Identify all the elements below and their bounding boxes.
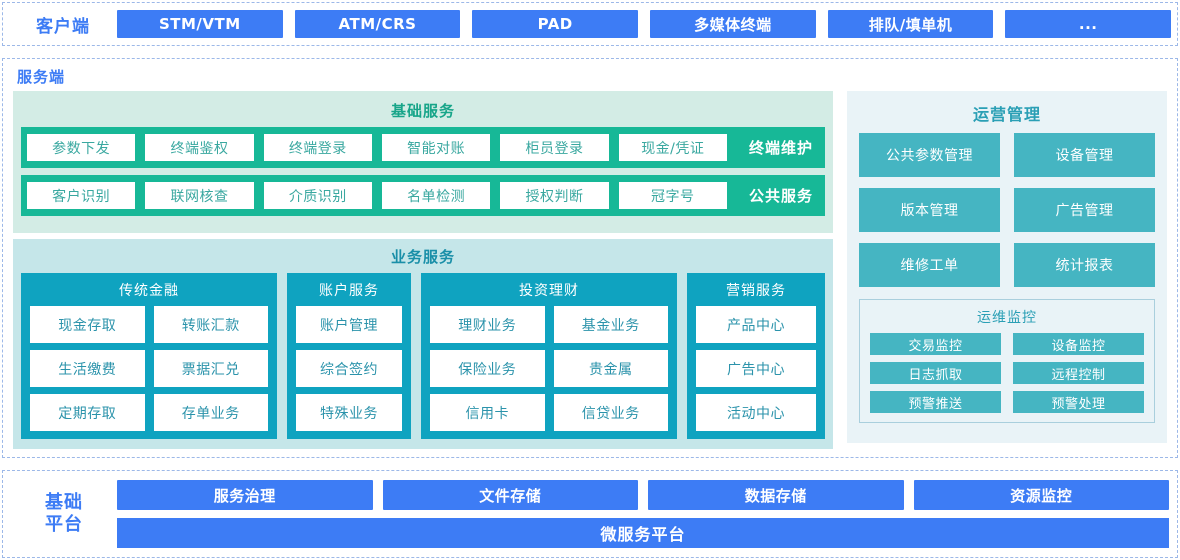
biz-chip-credit-business[interactable]: 信贷业务	[554, 394, 669, 431]
business-card-title-account-service: 账户服务	[296, 278, 402, 306]
business-card-grid-account-service: 账户管理 综合签约 特殊业务	[296, 306, 402, 431]
basic-service-row-terminal-maintenance: 参数下发 终端鉴权 终端登录 智能对账 柜员登录 现金/凭证 终端维护	[21, 127, 825, 168]
basic-chip-teller-login[interactable]: 柜员登录	[500, 134, 608, 161]
business-service-title: 业务服务	[21, 243, 825, 273]
business-card-title-investment-finance: 投资理财	[430, 278, 668, 306]
biz-chip-precious-metals[interactable]: 贵金属	[554, 350, 669, 387]
platform-item-microservice-platform[interactable]: 微服务平台	[117, 518, 1169, 548]
client-item-list: STM/VTM ATM/CRS PAD 多媒体终端 排队/填单机 ...	[117, 10, 1171, 38]
business-card-title-marketing-service: 营销服务	[696, 278, 816, 306]
platform-content: 服务治理 文件存储 数据存储 资源监控 微服务平台	[117, 480, 1169, 548]
biz-chip-cash-deposit-withdrawal[interactable]: 现金存取	[30, 306, 145, 343]
business-card-grid-traditional-finance: 现金存取 转账汇款 生活缴费 票据汇兑 定期存取 存单业务	[30, 306, 268, 431]
basic-chip-online-verification[interactable]: 联网核查	[145, 182, 253, 209]
basic-chip-authorization-judgement[interactable]: 授权判断	[500, 182, 608, 209]
biz-chip-credit-card[interactable]: 信用卡	[430, 394, 545, 431]
biz-chip-time-deposit[interactable]: 定期存取	[30, 394, 145, 431]
operations-monitoring-panel: 运维监控 交易监控 设备监控 日志抓取 远程控制 预警推送 预警处理	[859, 299, 1155, 423]
mon-button-device-monitoring[interactable]: 设备监控	[1013, 333, 1144, 355]
ops-button-maintenance-work-order[interactable]: 维修工单	[859, 243, 1000, 287]
platform-item-data-storage[interactable]: 数据存储	[648, 480, 904, 510]
biz-chip-certificate-deposit[interactable]: 存单业务	[154, 394, 269, 431]
basic-service-row-tag-public-service: 公共服务	[737, 185, 825, 206]
business-card-account-service: 账户服务 账户管理 综合签约 特殊业务	[287, 273, 411, 439]
platform-item-file-storage[interactable]: 文件存储	[383, 480, 639, 510]
basic-chip-terminal-login[interactable]: 终端登录	[264, 134, 372, 161]
business-card-marketing-service: 营销服务 产品中心 广告中心 活动中心	[687, 273, 825, 439]
mon-button-alert-push[interactable]: 预警推送	[870, 391, 1001, 413]
business-card-title-traditional-finance: 传统金融	[30, 278, 268, 306]
basic-chip-media-recognition[interactable]: 介质识别	[264, 182, 372, 209]
basic-service-row-tag-terminal-maintenance: 终端维护	[737, 137, 825, 158]
biz-chip-insurance-business[interactable]: 保险业务	[430, 350, 545, 387]
business-service-cards: 传统金融 现金存取 转账汇款 生活缴费 票据汇兑 定期存取 存单业务	[21, 273, 825, 439]
ops-button-advertising-management[interactable]: 广告管理	[1014, 188, 1155, 232]
biz-chip-bill-exchange[interactable]: 票据汇兑	[154, 350, 269, 387]
client-item-more[interactable]: ...	[1005, 10, 1171, 38]
mon-button-alert-handling[interactable]: 预警处理	[1013, 391, 1144, 413]
client-item-multimedia-terminal[interactable]: 多媒体终端	[650, 10, 816, 38]
platform-label-line1: 基础	[11, 492, 117, 514]
client-item-stm-vtm[interactable]: STM/VTM	[117, 10, 283, 38]
basic-chip-cash-voucher[interactable]: 现金/凭证	[619, 134, 727, 161]
biz-chip-activity-center[interactable]: 活动中心	[696, 394, 816, 431]
biz-chip-fund-business[interactable]: 基金业务	[554, 306, 669, 343]
basic-chip-terminal-auth[interactable]: 终端鉴权	[145, 134, 253, 161]
ops-button-device-management[interactable]: 设备管理	[1014, 133, 1155, 177]
business-card-grid-investment-finance: 理财业务 基金业务 保险业务 贵金属 信用卡 信贷业务	[430, 306, 668, 431]
biz-chip-special-business[interactable]: 特殊业务	[296, 394, 402, 431]
basic-service-section: 基础服务 参数下发 终端鉴权 终端登录 智能对账 柜员登录 现金/凭证 终端维护…	[13, 91, 833, 233]
mon-button-remote-control[interactable]: 远程控制	[1013, 362, 1144, 384]
server-columns: 基础服务 参数下发 终端鉴权 终端登录 智能对账 柜员登录 现金/凭证 终端维护…	[13, 91, 1167, 443]
basic-service-title: 基础服务	[21, 97, 825, 127]
biz-chip-advertising-center[interactable]: 广告中心	[696, 350, 816, 387]
client-layer-label: 客户端	[9, 12, 117, 37]
basic-chip-list-check[interactable]: 名单检测	[382, 182, 490, 209]
architecture-diagram: 客户端 STM/VTM ATM/CRS PAD 多媒体终端 排队/填单机 ...…	[0, 0, 1180, 560]
operations-management-title: 运营管理	[859, 99, 1155, 133]
mon-button-transaction-monitoring[interactable]: 交易监控	[870, 333, 1001, 355]
platform-item-service-governance[interactable]: 服务治理	[117, 480, 373, 510]
biz-chip-product-center[interactable]: 产品中心	[696, 306, 816, 343]
business-card-investment-finance: 投资理财 理财业务 基金业务 保险业务 贵金属 信用卡 信贷业务	[421, 273, 677, 439]
platform-layer: 基础 平台 服务治理 文件存储 数据存储 资源监控 微服务平台	[2, 470, 1178, 558]
operations-monitoring-title: 运维监控	[870, 304, 1144, 333]
operations-button-grid: 公共参数管理 设备管理 版本管理 广告管理 维修工单 统计报表	[859, 133, 1155, 287]
basic-chip-smart-reconciliation[interactable]: 智能对账	[382, 134, 490, 161]
basic-chip-customer-identification[interactable]: 客户识别	[27, 182, 135, 209]
biz-chip-account-management[interactable]: 账户管理	[296, 306, 402, 343]
operations-monitoring-grid: 交易监控 设备监控 日志抓取 远程控制 预警推送 预警处理	[870, 333, 1144, 413]
platform-top-row: 服务治理 文件存储 数据存储 资源监控	[117, 480, 1169, 510]
server-layer-label: 服务端	[17, 66, 1167, 87]
operations-management-panel: 运营管理 公共参数管理 设备管理 版本管理 广告管理 维修工单 统计报表 运维监…	[847, 91, 1167, 443]
basic-service-row-public-service: 客户识别 联网核查 介质识别 名单检测 授权判断 冠字号 公共服务	[21, 175, 825, 216]
client-item-atm-crs[interactable]: ATM/CRS	[295, 10, 461, 38]
business-card-grid-marketing-service: 产品中心 广告中心 活动中心	[696, 306, 816, 431]
biz-chip-comprehensive-signing[interactable]: 综合签约	[296, 350, 402, 387]
mon-button-log-capture[interactable]: 日志抓取	[870, 362, 1001, 384]
server-layer: 服务端 基础服务 参数下发 终端鉴权 终端登录 智能对账 柜员登录 现金/凭证 …	[2, 58, 1178, 458]
platform-layer-label: 基础 平台	[11, 492, 117, 536]
ops-button-version-management[interactable]: 版本管理	[859, 188, 1000, 232]
business-card-traditional-finance: 传统金融 现金存取 转账汇款 生活缴费 票据汇兑 定期存取 存单业务	[21, 273, 277, 439]
biz-chip-living-payment[interactable]: 生活缴费	[30, 350, 145, 387]
client-layer: 客户端 STM/VTM ATM/CRS PAD 多媒体终端 排队/填单机 ...	[2, 2, 1178, 46]
basic-chip-param-dispatch[interactable]: 参数下发	[27, 134, 135, 161]
client-item-queue-form-machine[interactable]: 排队/填单机	[828, 10, 994, 38]
ops-button-public-parameter-management[interactable]: 公共参数管理	[859, 133, 1000, 177]
client-item-pad[interactable]: PAD	[472, 10, 638, 38]
platform-label-line2: 平台	[11, 514, 117, 536]
platform-item-resource-monitoring[interactable]: 资源监控	[914, 480, 1170, 510]
biz-chip-transfer-remittance[interactable]: 转账汇款	[154, 306, 269, 343]
business-service-section: 业务服务 传统金融 现金存取 转账汇款 生活缴费 票据汇兑 定期存取 存单业务	[13, 239, 833, 449]
basic-chip-serial-number[interactable]: 冠字号	[619, 182, 727, 209]
ops-button-statistical-report[interactable]: 统计报表	[1014, 243, 1155, 287]
biz-chip-wealth-management[interactable]: 理财业务	[430, 306, 545, 343]
server-left-column: 基础服务 参数下发 终端鉴权 终端登录 智能对账 柜员登录 现金/凭证 终端维护…	[13, 91, 833, 443]
